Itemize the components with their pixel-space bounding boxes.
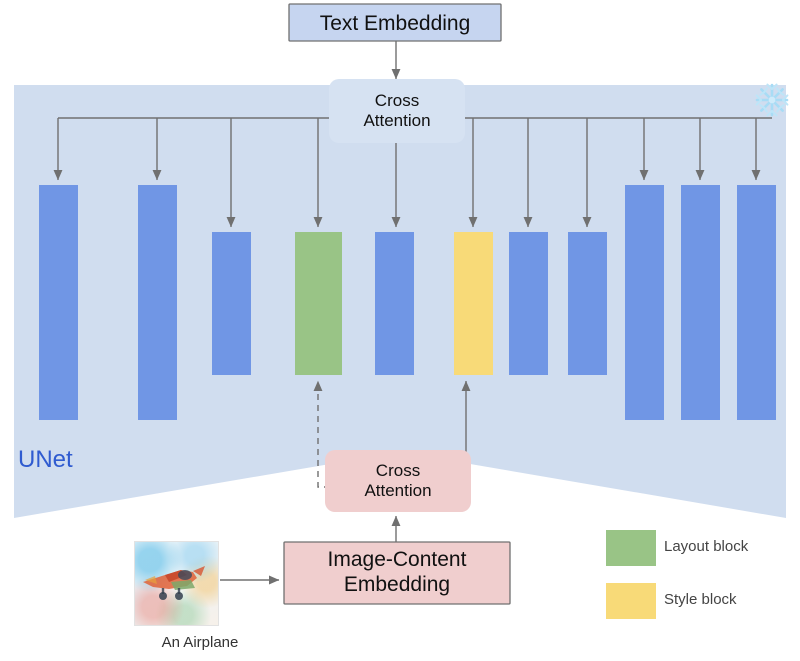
- legend-swatch-style-block: [606, 583, 656, 619]
- unet-block-up-block-2[interactable]: [568, 232, 607, 375]
- unet-block-up-block-1[interactable]: [509, 232, 548, 375]
- unet-block-up-block-5[interactable]: [737, 185, 776, 420]
- diagram-canvas: Text Embedding Cross Attention Cross Att…: [0, 0, 800, 661]
- watercolor-airplane-image: [134, 541, 219, 626]
- architecture-diagram: [0, 0, 800, 661]
- unet-block-down-block-3[interactable]: [212, 232, 251, 375]
- unet-block-up-block-4[interactable]: [681, 185, 720, 420]
- cross-attention-top-box[interactable]: [329, 79, 465, 143]
- legend-swatch-layout-block: [606, 530, 656, 566]
- unet-block-down-block-2[interactable]: [138, 185, 177, 420]
- unet-block-up-block-3[interactable]: [625, 185, 664, 420]
- cross-attention-bottom-box[interactable]: [325, 450, 471, 512]
- unet-block-style-block[interactable]: [454, 232, 493, 375]
- airplane-shape: [135, 542, 218, 625]
- unet-block-layout-block[interactable]: [295, 232, 342, 375]
- text-embedding-box[interactable]: [289, 4, 501, 41]
- unet-block-down-block-1[interactable]: [39, 185, 78, 420]
- snowflake-icon: [757, 85, 788, 116]
- unet-block-mid-block[interactable]: [375, 232, 414, 375]
- image-content-embedding-box[interactable]: [284, 542, 510, 604]
